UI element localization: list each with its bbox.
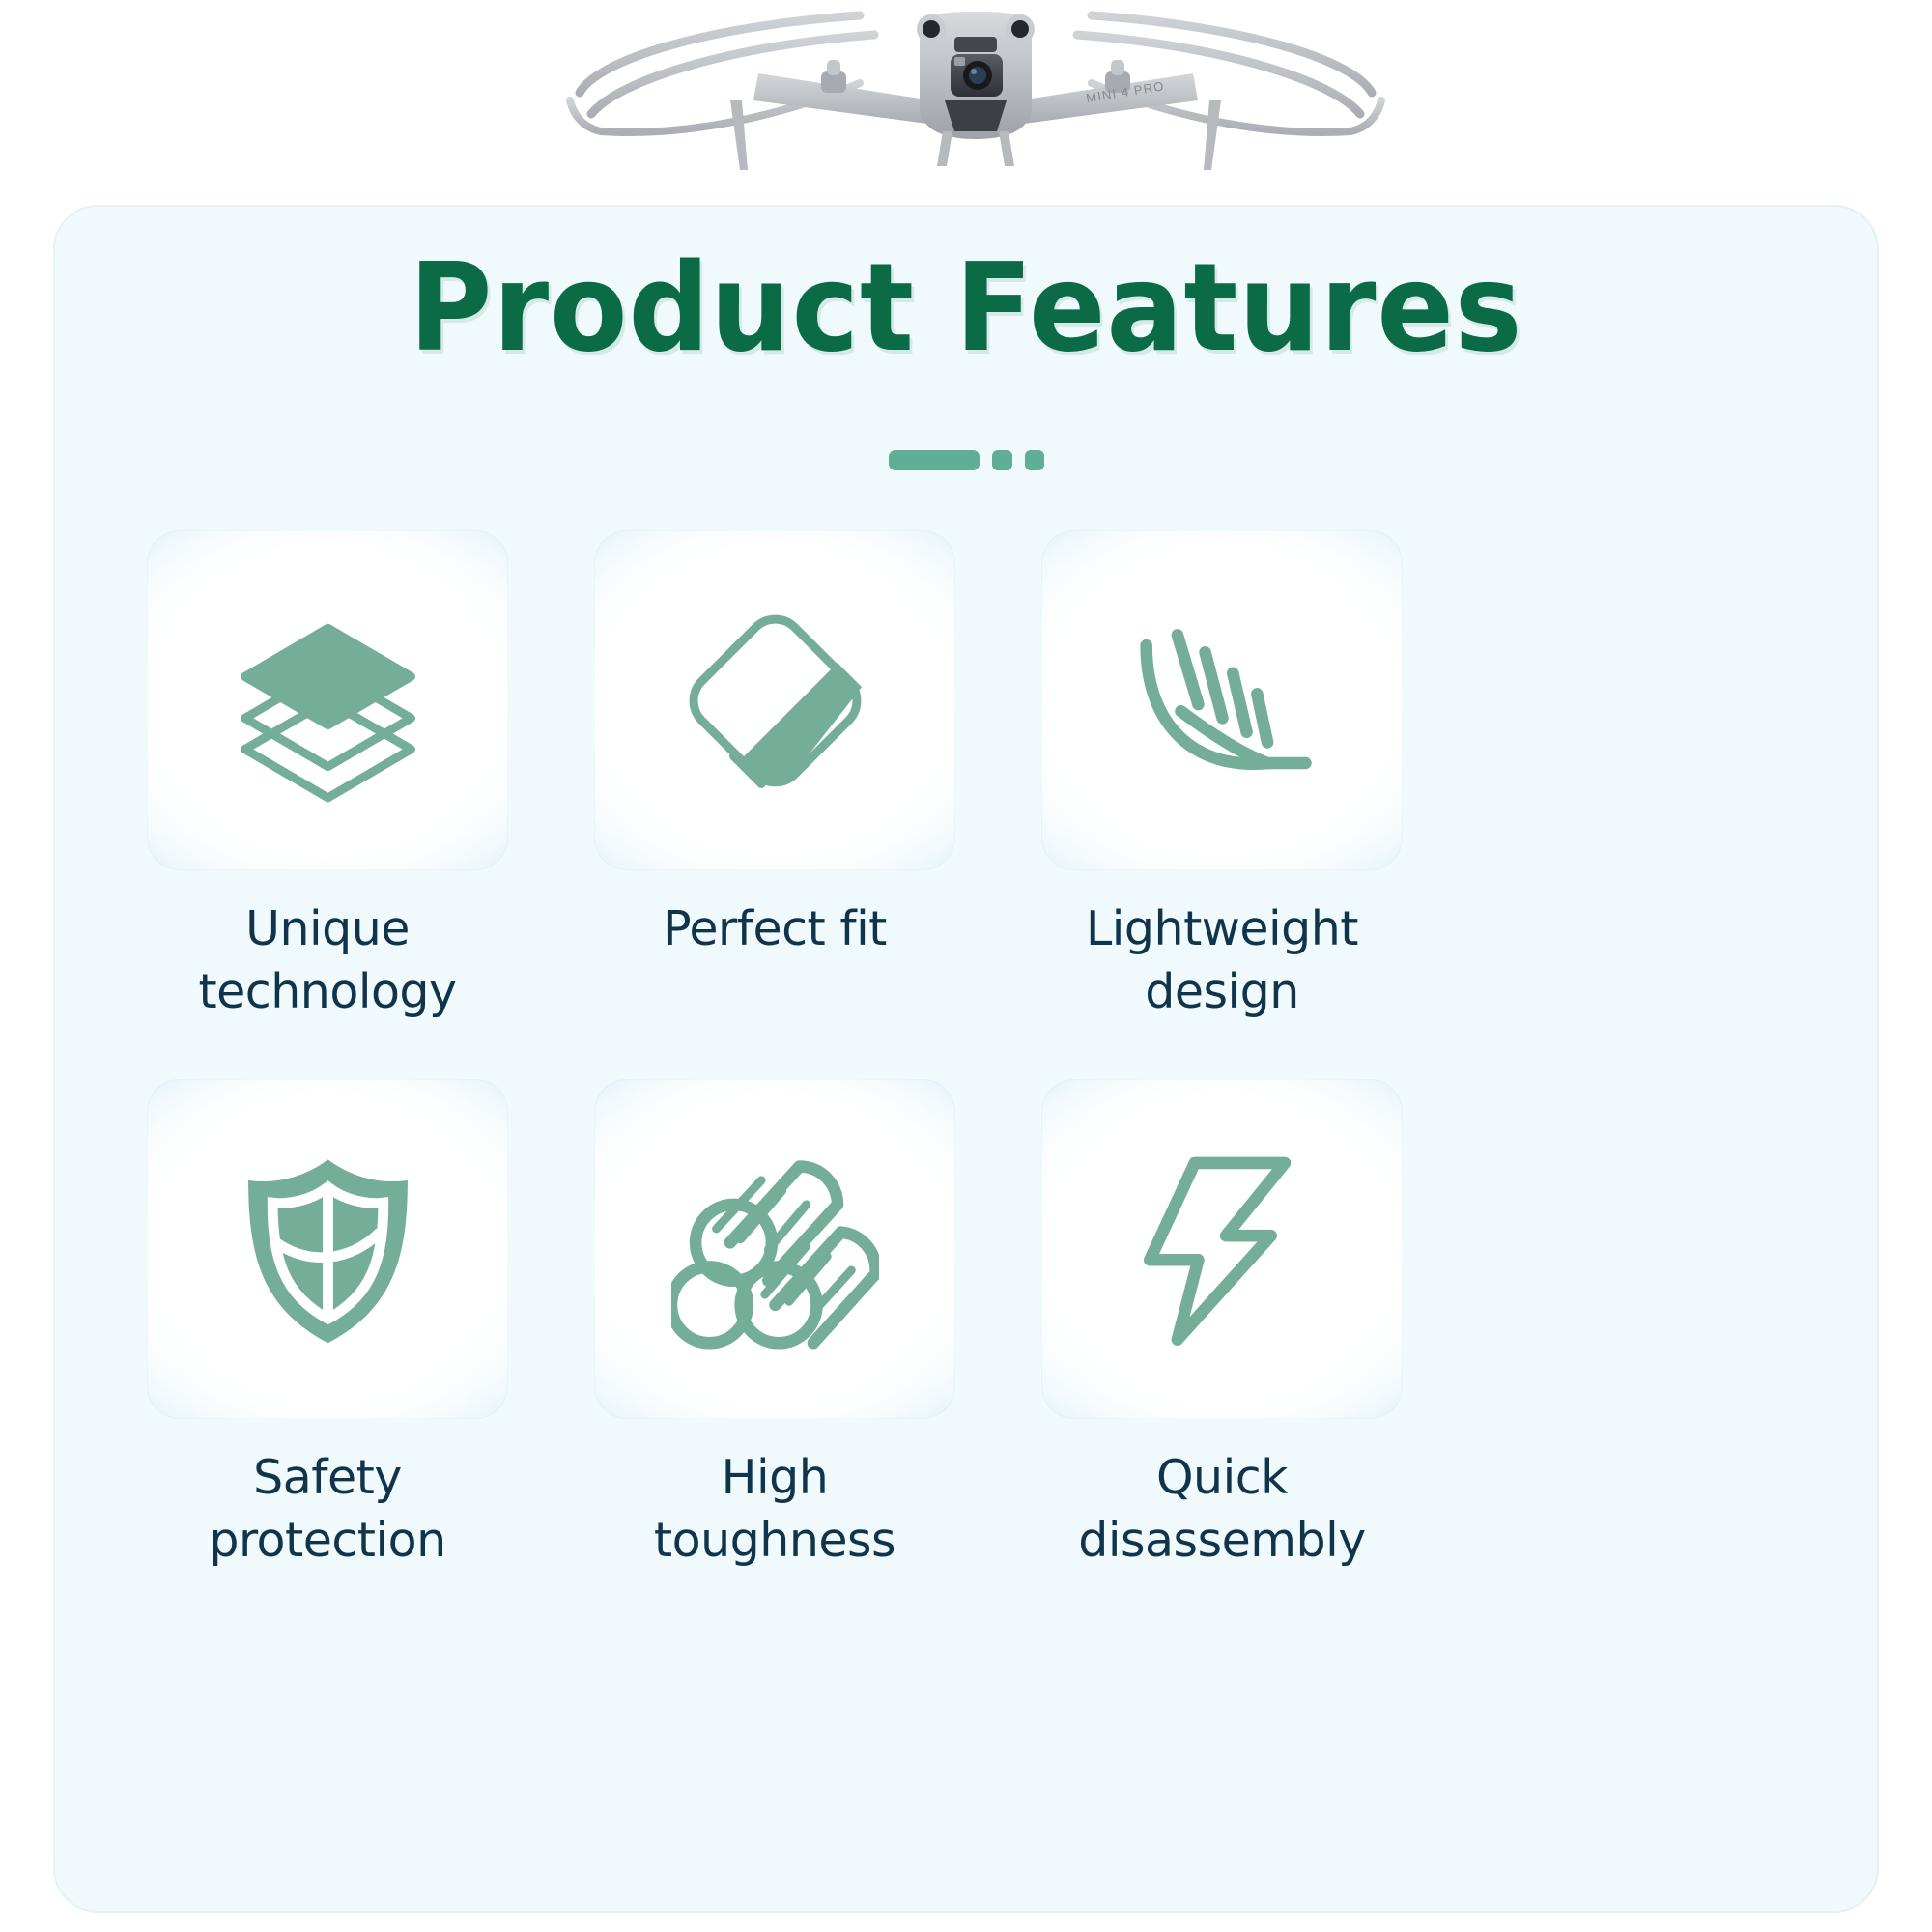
product-features-panel: Product Features Unique technolo (53, 205, 1879, 1913)
product-hero: MINI 4 PRO (0, 0, 1932, 198)
feature-card[interactable] (1041, 530, 1403, 870)
feature-card[interactable] (1041, 1079, 1403, 1419)
feature-item-unique-technology[interactable]: Unique technology (147, 530, 508, 1023)
layers-icon (224, 597, 432, 805)
divider-bar (889, 450, 980, 470)
features-grid: Unique technology Perfect fit (147, 530, 1789, 1573)
drone-illustration: MINI 4 PRO (541, 0, 1410, 193)
feature-item-perfect-fit[interactable]: Perfect fit (594, 530, 955, 1023)
feature-item-lightweight-design[interactable]: Lightweight design (1041, 530, 1403, 1023)
divider-dot-1 (992, 450, 1012, 470)
logs-icon (671, 1146, 879, 1353)
feature-card[interactable] (147, 530, 508, 870)
check-badge-icon (671, 597, 879, 805)
divider-dot-2 (1025, 450, 1044, 470)
feature-label: Unique technology (198, 897, 456, 1023)
feature-item-safety-protection[interactable]: Safety protection (147, 1079, 508, 1572)
feather-icon (1119, 597, 1326, 805)
drone-image: MINI 4 PRO (541, 0, 1410, 193)
feature-label: Perfect fit (663, 897, 887, 960)
feature-item-high-toughness[interactable]: High toughness (594, 1079, 955, 1572)
title-divider (55, 450, 1877, 470)
feature-label: Safety protection (209, 1446, 445, 1572)
feature-label: High toughness (654, 1446, 895, 1572)
feature-card[interactable] (147, 1079, 508, 1419)
feature-card[interactable] (594, 530, 955, 870)
shield-icon (224, 1146, 432, 1353)
lightning-bolt-icon (1119, 1146, 1326, 1353)
feature-card[interactable] (594, 1079, 955, 1419)
feature-label: Lightweight design (1086, 897, 1358, 1023)
feature-item-quick-disassembly[interactable]: Quick disassembly (1041, 1079, 1403, 1572)
feature-label: Quick disassembly (1078, 1446, 1365, 1572)
page-title: Product Features (119, 247, 1813, 369)
